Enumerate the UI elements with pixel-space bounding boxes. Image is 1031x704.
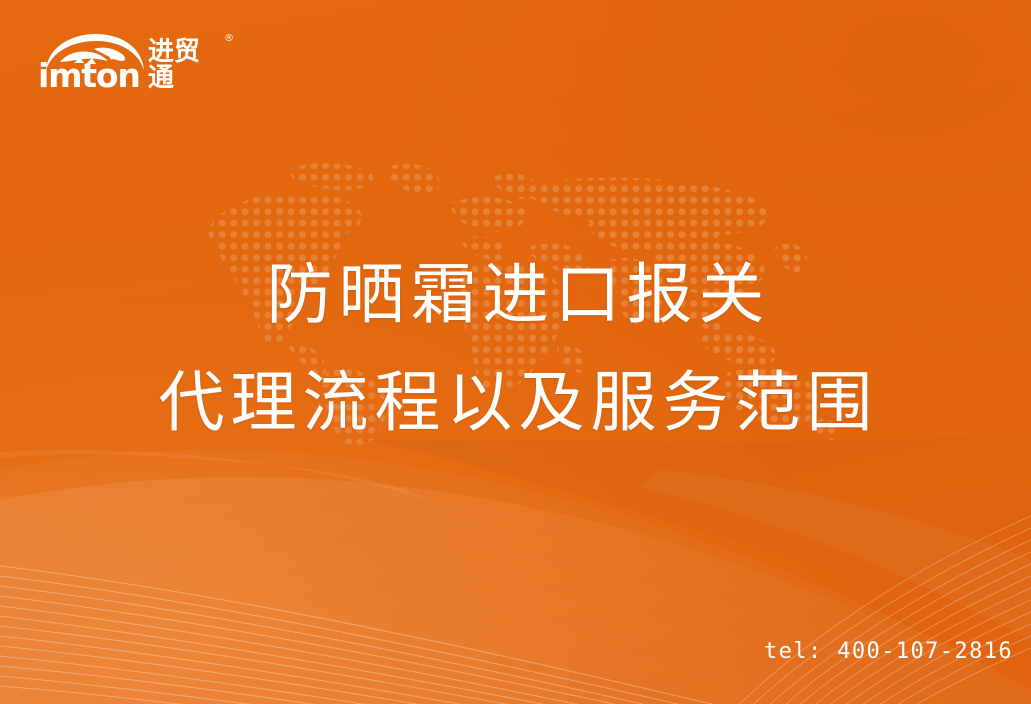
promo-banner: imton 进贸通 ® 防晒霜进口报关 代理流程以及服务范围 tel: 400-… [0, 0, 1031, 704]
headline-line-2: 代理流程以及服务范围 [0, 370, 1031, 436]
registered-trademark-icon: ® [224, 33, 234, 44]
logo-chinese-wrap: 进贸通 ® [148, 39, 223, 91]
imton-logo[interactable]: imton 进贸通 ® [38, 32, 223, 94]
headline-block: 防晒霜进口报关 代理流程以及服务范围 [0, 262, 1031, 436]
contact-phone[interactable]: tel: 400-107-2816 [764, 639, 1013, 664]
logo-wordmark: imton [38, 59, 150, 92]
headline-line-1: 防晒霜进口报关 [0, 262, 1031, 328]
logo-chinese-name: 进贸通 [148, 37, 200, 93]
logo-mark: imton [38, 32, 146, 94]
